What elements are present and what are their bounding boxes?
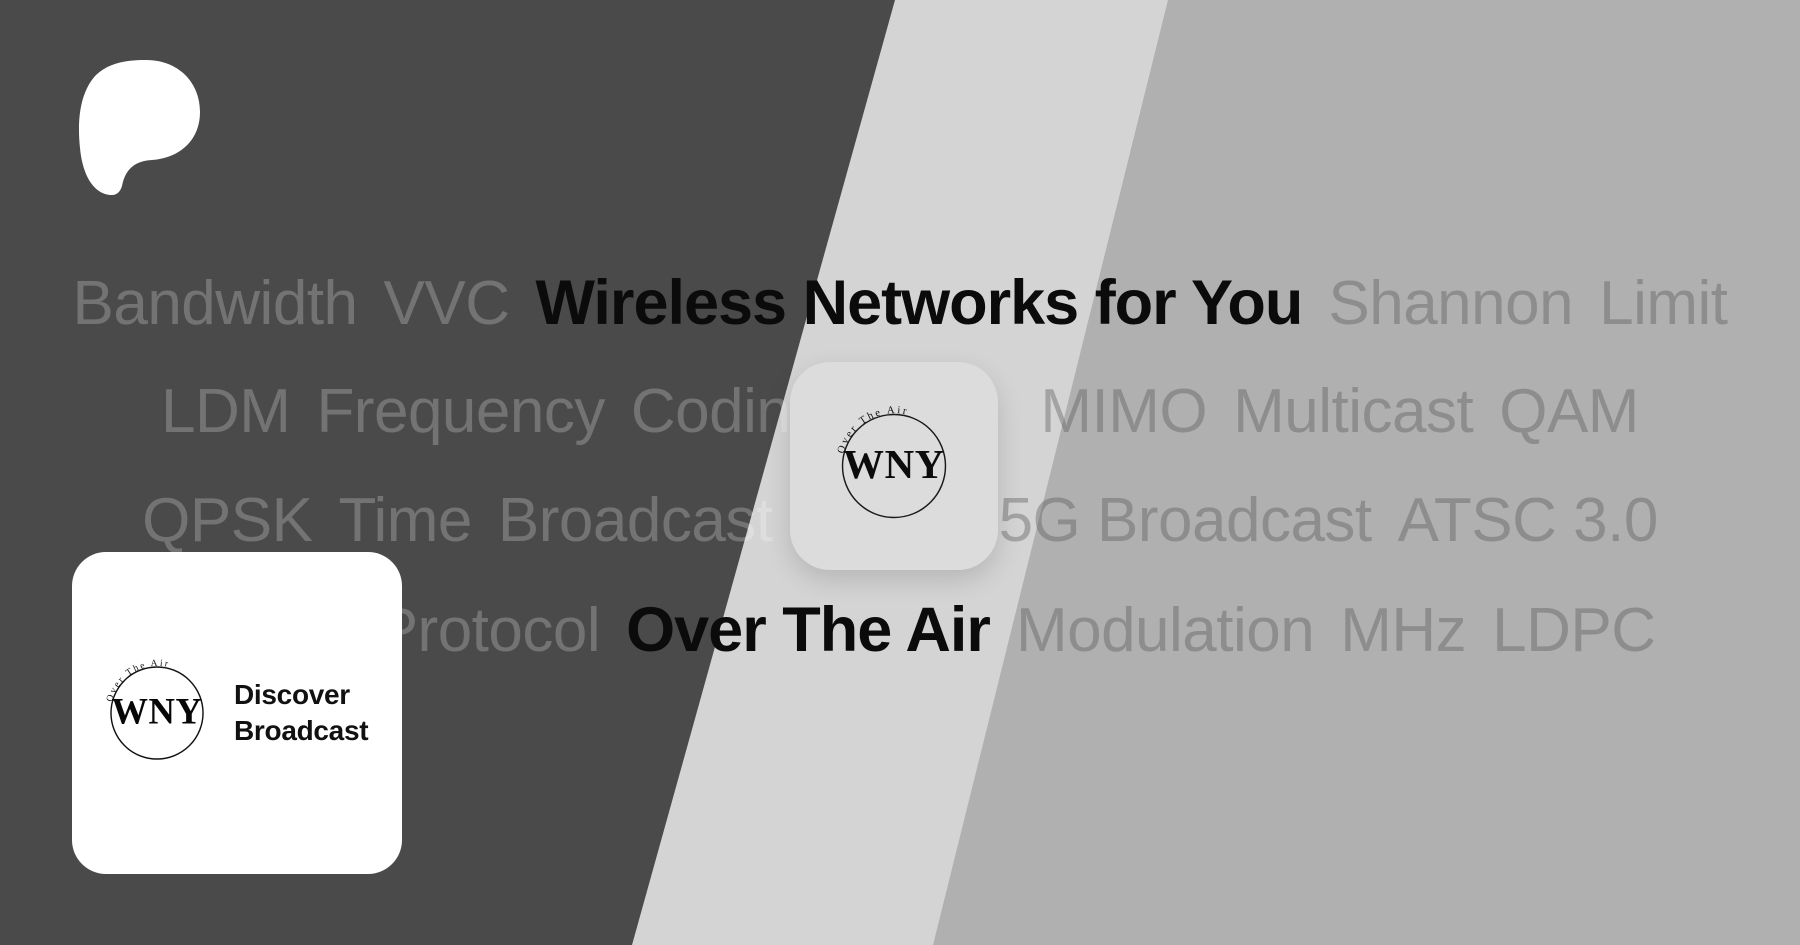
promo-title-line-1: Discover [234, 677, 368, 713]
center-logo-tile: Over The Air WNY [790, 362, 998, 570]
svg-text:WNY: WNY [111, 691, 202, 732]
discover-broadcast-card[interactable]: Over The Air WNY Discover Broadcast [72, 552, 402, 874]
patreon-logo-icon [72, 58, 200, 196]
keyword-atsc-30: ATSC 3.0 [1385, 490, 1671, 552]
headline-over-the-air: Over The Air [613, 599, 1003, 662]
keyword-ldm: LDM [148, 381, 303, 443]
keyword-mimo: MIMO [1027, 381, 1220, 443]
keyword-row-1: Bandwidth VVC Wireless Networks for You … [0, 272, 1800, 335]
keyword-ldpc: LDPC [1479, 600, 1668, 662]
keyword-shannon: Shannon [1315, 273, 1586, 335]
creator-banner: Bandwidth VVC Wireless Networks for You … [0, 0, 1800, 945]
wny-over-the-air-logo-icon: Over The Air WNY [98, 654, 216, 772]
keyword-mhz: MHz [1327, 600, 1479, 662]
keyword-frequency: Frequency [303, 381, 617, 443]
keyword-limit: Limit [1586, 273, 1740, 335]
keyword-time: Time [325, 490, 484, 552]
keyword-modulation: Modulation [1003, 600, 1327, 662]
promo-title-line-2: Broadcast [234, 713, 368, 749]
keyword-vvc: VVC [371, 273, 523, 335]
wny-over-the-air-logo-icon: Over The Air WNY [828, 400, 960, 532]
promo-card-content: Over The Air WNY Discover Broadcast [98, 654, 368, 772]
keyword-5g-broadcast: 5G Broadcast [986, 490, 1385, 552]
headline-wireless-networks-for-you: Wireless Networks for You [523, 272, 1316, 335]
keyword-qpsk: QPSK [129, 490, 325, 552]
promo-card-title: Discover Broadcast [234, 677, 368, 749]
keyword-broadcast: Broadcast [485, 490, 786, 552]
keyword-bandwidth: Bandwidth [59, 273, 370, 335]
keyword-qam: QAM [1486, 381, 1652, 443]
svg-text:WNY: WNY [843, 442, 945, 487]
keyword-multicast: Multicast [1220, 381, 1486, 443]
